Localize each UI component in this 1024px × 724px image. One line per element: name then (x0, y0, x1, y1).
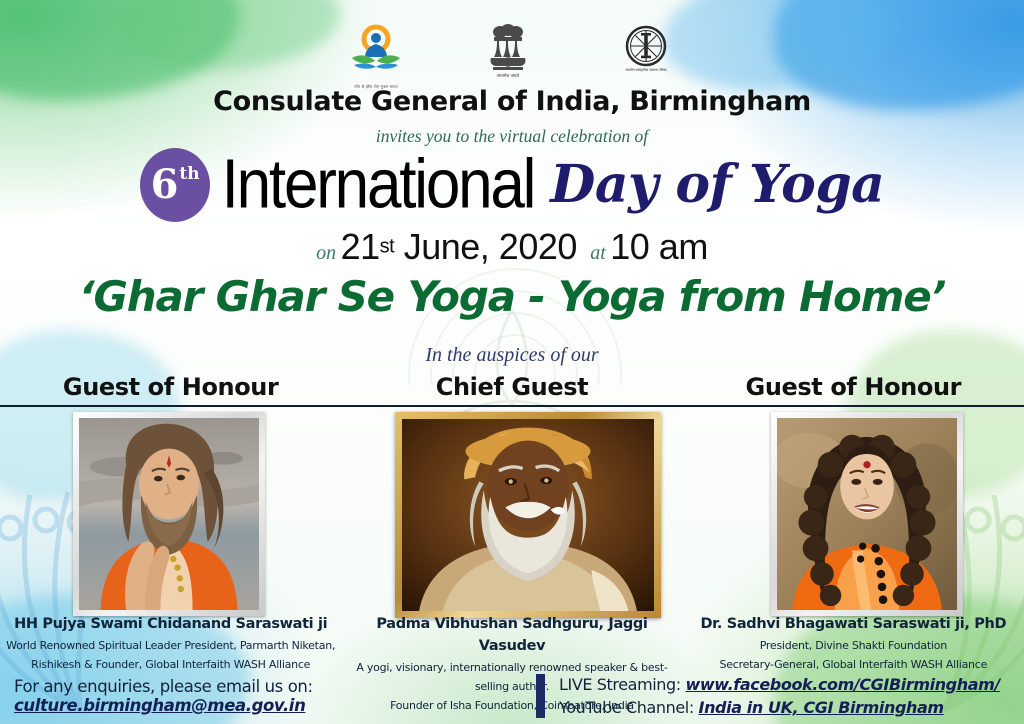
logo-strip: योग से होगा रोग मुक्त भारत सत्यमेव जयते (0, 24, 1024, 80)
facebook-link[interactable]: www.facebook.com/CGIBirmingham/ (686, 675, 1000, 694)
footer-bar: For any enquiries, please email us on: c… (0, 668, 1024, 724)
guest-name-left: HH Pujya Swami Chidanand Saraswati ji (6, 614, 335, 636)
event-date-rest: June, 2020 (394, 226, 577, 267)
guest-sub1-right: President, Divine Shakti Foundation (689, 636, 1018, 655)
photo-swami-chidanand-saraswati (73, 412, 265, 616)
title-day-of-yoga: Day of Yoga (550, 159, 884, 211)
live-streaming-label: LIVE Streaming: (559, 675, 681, 694)
guest-name-center: Padma Vibhushan Sadhguru, Jaggi Vasudev (347, 614, 676, 658)
youtube-row: YouTube Channel: India in UK, CGI Birmin… (559, 696, 1000, 719)
emblem-of-india-logo: सत्यमेव जयते (484, 24, 540, 80)
enquiries-block: For any enquiries, please email us on: c… (0, 677, 536, 715)
edition-suffix: th (179, 166, 199, 183)
guest-role-left: Guest of Honour (0, 373, 341, 401)
email-link[interactable]: culture.birmingham@mea.gov.in (14, 696, 305, 715)
enquiries-label: For any enquiries, please email us on: (14, 677, 313, 696)
guest-name-right: Dr. Sadhvi Bhagawati Saraswati ji, PhD (689, 614, 1018, 636)
title-international: International (222, 150, 535, 219)
svg-text:भारतीय सांस्कृतिक सम्बन्ध परिष: भारतीय सांस्कृतिक सम्बन्ध परिषद (625, 67, 667, 72)
organisation-title: Consulate General of India, Birmingham (0, 86, 1024, 117)
guest-photos (0, 412, 1024, 612)
event-datetime: on 21st June, 2020 at 10 am (0, 226, 1024, 268)
at-label: at (590, 242, 606, 264)
main-title-row: 6th International Day of Yoga (0, 144, 1024, 226)
youtube-label: YouTube Channel: (559, 698, 694, 717)
footer-divider (536, 674, 545, 718)
guest-role-headings: Guest of Honour Chief Guest Guest of Hon… (0, 373, 1024, 401)
heading-divider (0, 405, 1024, 407)
international-day-of-yoga-logo: योग से होगा रोग मुक्त भारत (348, 24, 404, 80)
iccr-logo: भारतीय सांस्कृतिक सम्बन्ध परिषद (620, 24, 676, 80)
auspices-label: In the auspices of our (0, 344, 1024, 367)
edition-number: 6 (151, 165, 179, 205)
event-tagline: ‘Ghar Ghar Se Yoga - Yoga from Home’ (0, 272, 1024, 321)
edition-badge: 6th (140, 148, 210, 222)
event-date-suffix: st (380, 236, 395, 258)
poster-canvas: योग से होगा रोग मुक्त भारत सत्यमेव जयते (0, 0, 1024, 724)
streaming-block: LIVE Streaming: www.facebook.com/CGIBirm… (559, 673, 1000, 719)
photo-sadhguru-jaggi-vasudev (395, 412, 661, 618)
live-streaming-row: LIVE Streaming: www.facebook.com/CGIBirm… (559, 673, 1000, 696)
on-label: on (316, 242, 336, 264)
guest-role-center: Chief Guest (341, 373, 682, 401)
svg-text:सत्यमेव जयते: सत्यमेव जयते (497, 72, 520, 78)
event-date-day: 21 (341, 226, 380, 267)
guest-role-right: Guest of Honour (683, 373, 1024, 401)
photo-sadhvi-bhagawati-saraswati (771, 412, 963, 616)
event-time: 10 am (610, 226, 708, 267)
youtube-link[interactable]: India in UK, CGI Birmingham (699, 698, 944, 717)
guest-sub1-left: World Renowned Spiritual Leader Presiden… (6, 636, 335, 655)
